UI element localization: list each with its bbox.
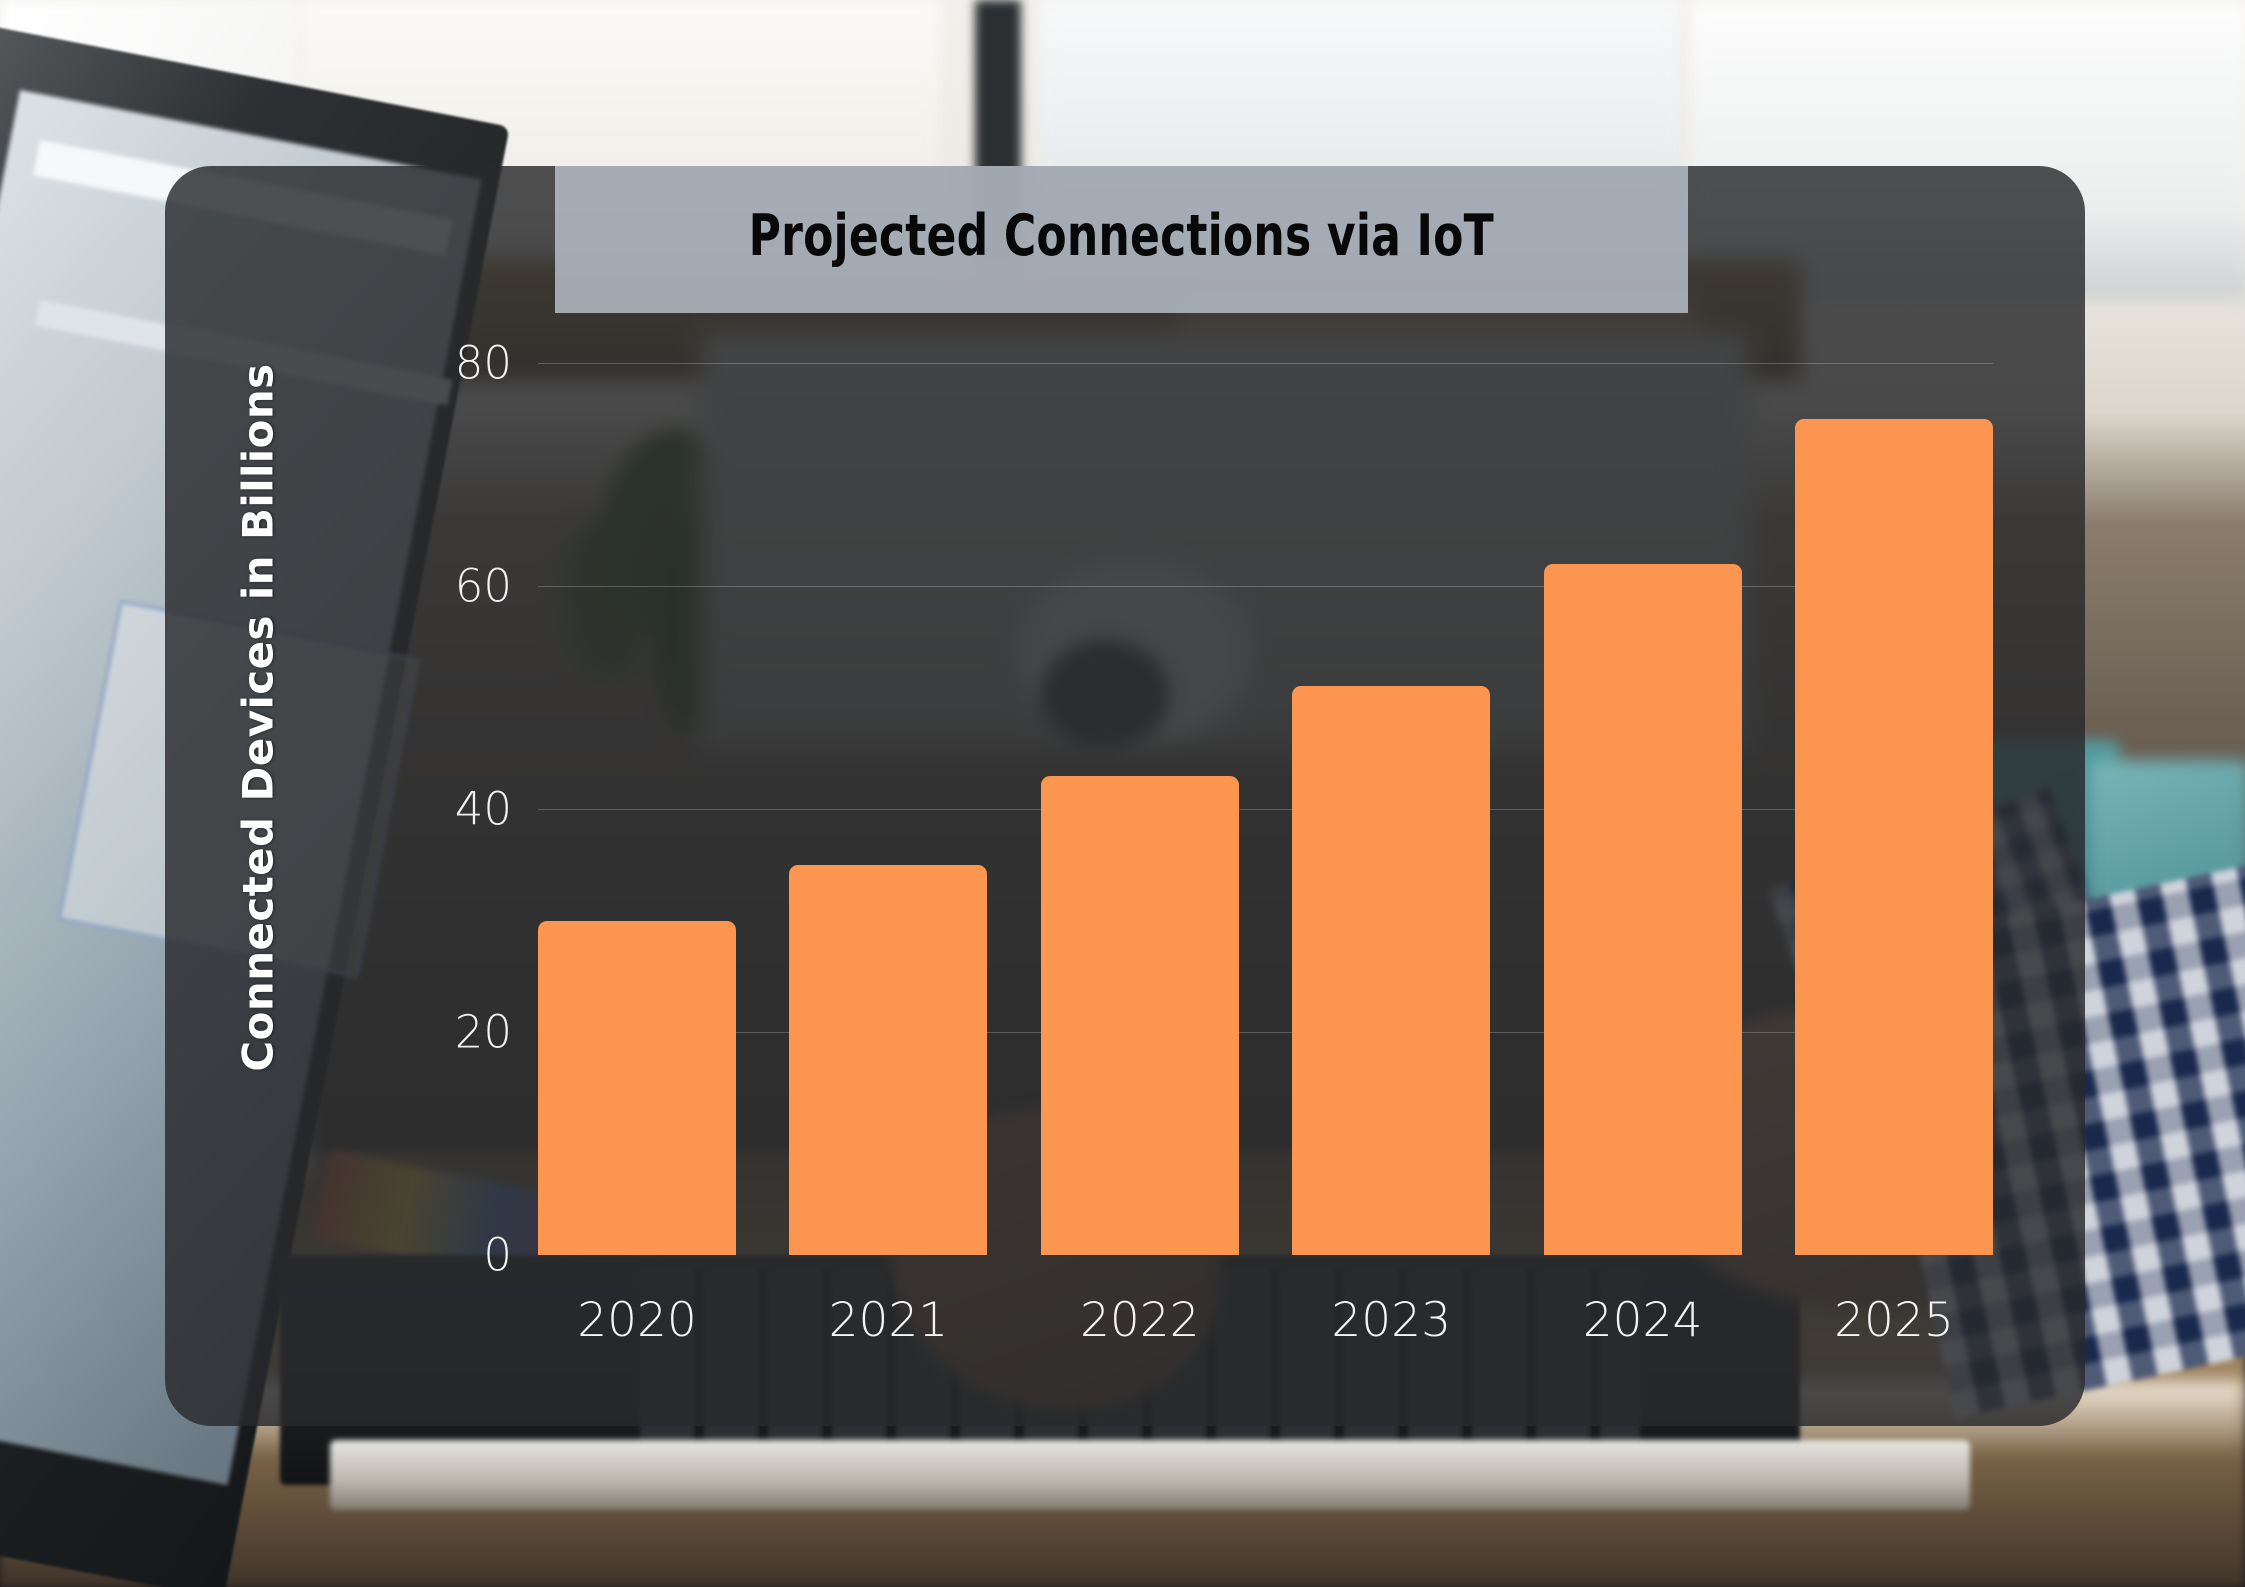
bar-slot: 2023	[1292, 363, 1490, 1255]
bar-slot: 2025	[1795, 363, 1993, 1255]
x-axis-tick-label: 2024	[1583, 1293, 1703, 1348]
bar-slot: 2022	[1041, 363, 1239, 1255]
x-axis-tick-label: 2022	[1080, 1293, 1200, 1348]
y-axis-tick-label: 80	[455, 337, 512, 390]
bar[interactable]	[1041, 776, 1239, 1255]
y-axis-tick-label: 20	[455, 1006, 512, 1059]
y-axis-tick-label: 0	[483, 1229, 512, 1282]
x-axis-tick-label: 2020	[577, 1293, 697, 1348]
x-axis-tick-label: 2021	[829, 1293, 949, 1348]
chart-card: Projected Connections via IoT Connected …	[165, 166, 2085, 1426]
bar-slot: 2021	[789, 363, 987, 1255]
bar-slot: 2020	[538, 363, 736, 1255]
bar[interactable]	[538, 921, 736, 1256]
bar-slot: 2024	[1544, 363, 1742, 1255]
plot-area: 020406080 202020212022202320242025	[538, 363, 1993, 1255]
x-axis-tick-label: 2025	[1834, 1293, 1954, 1348]
y-axis-tick-label: 60	[455, 560, 512, 613]
y-axis-title: Connected Devices in Billions	[234, 308, 283, 1128]
bar[interactable]	[1795, 419, 1993, 1255]
bar[interactable]	[1544, 564, 1742, 1255]
bar[interactable]	[789, 865, 987, 1255]
chart-title: Projected Connections via IoT	[749, 203, 1494, 269]
y-axis-tick-label: 40	[455, 783, 512, 836]
bar[interactable]	[1292, 686, 1490, 1255]
chart-title-band: Projected Connections via IoT	[555, 166, 1688, 313]
x-axis-tick-label: 2023	[1331, 1293, 1451, 1348]
laptop-front-edge	[330, 1440, 1970, 1510]
bar-series: 202020212022202320242025	[538, 363, 1993, 1255]
